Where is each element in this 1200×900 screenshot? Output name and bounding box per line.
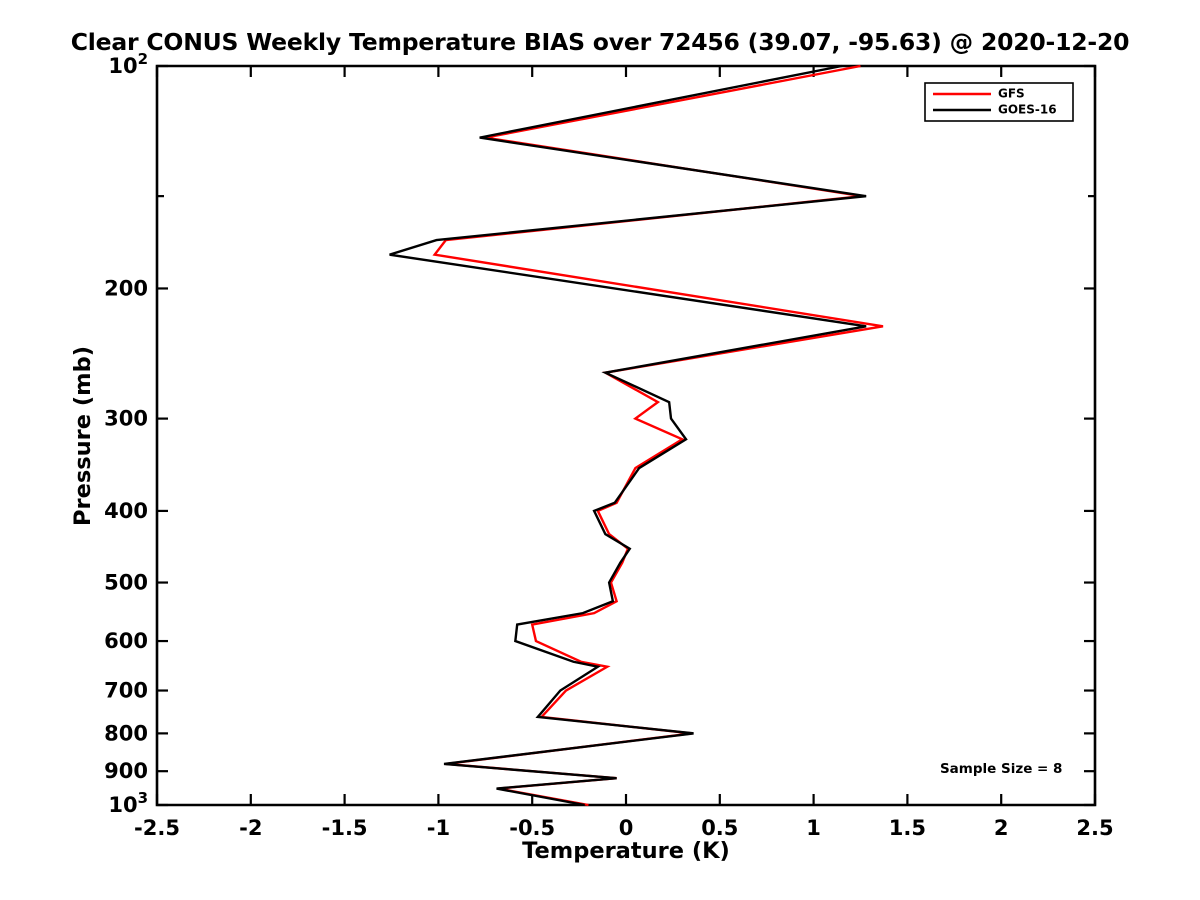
sample-size-annotation: Sample Size = 8 [940,761,1063,777]
x-tick-label: 0 [619,816,634,840]
y-axis-tick-labels: 102200300400500600700800900103 [104,50,148,817]
x-tick-label: 2.5 [1076,816,1113,840]
series-line-goes-16 [390,66,867,805]
x-tick-label: 0.5 [701,816,738,840]
x-tick-label: -1 [427,816,450,840]
x-tick-label: -2 [239,816,262,840]
x-tick-label: -2.5 [134,816,180,840]
y-tick-label: 900 [104,759,148,783]
y-tick-label: 200 [104,276,148,300]
x-tick-label: 2 [994,816,1009,840]
y-tick-label: 400 [104,499,148,523]
annotations-group: Sample Size = 8 [940,761,1063,777]
y-tick-label: 700 [104,679,148,703]
x-axis-title: Temperature (K) [522,838,730,864]
plot-area: -2.5-2-1.5-1-0.500.511.522.5 10220030040… [0,0,1200,900]
y-tick-label: 800 [104,721,148,745]
x-axis-tick-labels: -2.5-2-1.5-1-0.500.511.522.5 [134,816,1114,840]
y-tick-label: 500 [104,571,148,595]
legend-label-goes-16[interactable]: GOES-16 [998,103,1057,117]
y-tick-label: 103 [108,789,148,817]
y-axis-title: Pressure (mb) [70,346,96,526]
y-axis-ticks [157,66,1095,805]
x-tick-label: 1 [806,816,821,840]
y-tick-label: 300 [104,407,148,431]
chart-legend[interactable]: GFSGOES-16 [925,83,1073,121]
x-tick-label: 1.5 [889,816,926,840]
axis-spines [157,66,1095,805]
x-axis-ticks [157,66,1095,805]
y-tick-label: 600 [104,629,148,653]
legend-label-gfs[interactable]: GFS [998,87,1025,101]
data-series-group [390,66,883,805]
y-tick-label: 102 [108,50,148,78]
x-tick-label: -0.5 [509,816,555,840]
plot-border [157,66,1095,805]
series-line-gfs [435,66,883,805]
chart-figure: Clear CONUS Weekly Temperature BIAS over… [0,0,1200,900]
x-tick-label: -1.5 [322,816,368,840]
